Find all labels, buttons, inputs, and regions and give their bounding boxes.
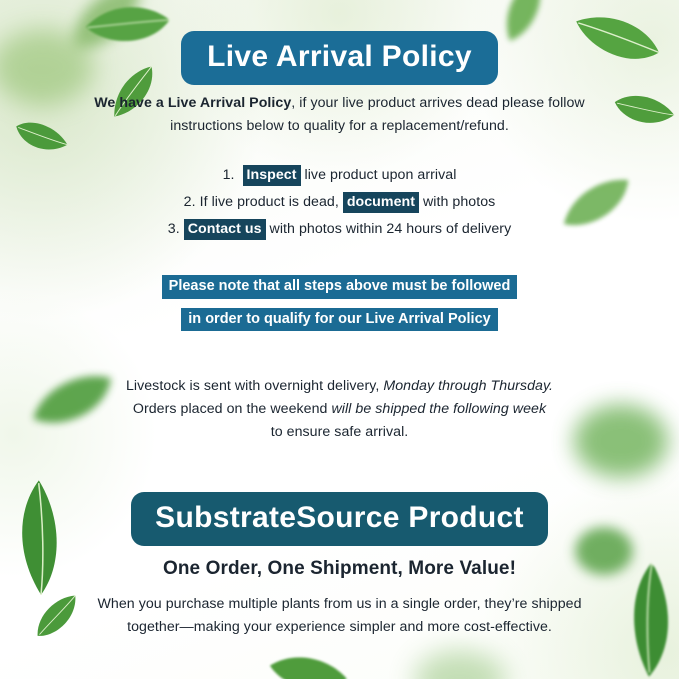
live-arrival-intro-paragraph: We have a Live Arrival Policy, if your l… <box>0 92 679 138</box>
step-number: 2. <box>184 194 196 210</box>
live-arrival-banner-row: Live Arrival Policy <box>0 31 679 85</box>
content-root: Live Arrival Policy We have a Live Arriv… <box>0 0 679 679</box>
policy-note-block: Please note that all steps above must be… <box>0 275 679 331</box>
substrate-body-paragraph: When you purchase multiple plants from u… <box>0 593 679 639</box>
shipping-line-1: Livestock is sent with overnight deliver… <box>0 375 679 398</box>
policy-note-line-1: Please note that all steps above must be… <box>162 275 518 299</box>
list-item: 3. Contact us with photos within 24 hour… <box>0 222 679 236</box>
shipping-line-3: to ensure safe arrival. <box>0 421 679 444</box>
live-arrival-policy-banner: Live Arrival Policy <box>181 31 498 85</box>
policy-note-line-2: in order to qualify for our Live Arrival… <box>181 308 497 332</box>
step-after-text: live product upon arrival <box>301 167 457 183</box>
list-item: 2. If live product is dead, document wit… <box>0 195 679 209</box>
step-after-text: with photos <box>419 194 495 210</box>
substrate-banner-row: SubstrateSource Product <box>0 492 679 546</box>
step-highlight-document[interactable]: document <box>343 192 419 213</box>
policy-note-line-2-row: in order to qualify for our Live Arrival… <box>0 308 679 332</box>
substrate-subheading: One Order, One Shipment, More Value! <box>0 558 679 580</box>
list-item: 1. Inspect live product upon arrival <box>0 168 679 182</box>
shipping-schedule-paragraph: Livestock is sent with overnight deliver… <box>0 375 679 444</box>
intro-line-2: instructions below to quality for a repl… <box>0 115 679 138</box>
substrate-body-line-1: When you purchase multiple plants from u… <box>0 593 679 616</box>
shipping-line-2-plain: Orders placed on the weekend <box>133 401 332 417</box>
step-after-text: with photos within 24 hours of delivery <box>266 221 512 237</box>
shipping-line-2: Orders placed on the weekend will be shi… <box>0 398 679 421</box>
step-number: 1. <box>223 167 235 183</box>
shipping-line-2-italic: will be shipped the following week <box>331 401 546 417</box>
shipping-line-1-italic: Monday through Thursday. <box>383 378 553 394</box>
shipping-line-1-plain: Livestock is sent with overnight deliver… <box>126 378 383 394</box>
intro-line-1: We have a Live Arrival Policy, if your l… <box>0 92 679 115</box>
substratesource-product-banner: SubstrateSource Product <box>131 492 548 546</box>
step-highlight-contact-us[interactable]: Contact us <box>184 219 266 240</box>
step-before-text: If live product is dead, <box>200 194 343 210</box>
step-number: 3. <box>168 221 180 237</box>
step-highlight-inspect[interactable]: Inspect <box>243 165 301 186</box>
policy-note-line-1-row: Please note that all steps above must be… <box>0 275 679 299</box>
infographic-page: Live Arrival Policy We have a Live Arriv… <box>0 0 679 679</box>
intro-bold-text: We have a Live Arrival Policy <box>94 95 291 111</box>
substrate-body-line-2: together—making your experience simpler … <box>0 616 679 639</box>
steps-list: 1. Inspect live product upon arrival 2. … <box>0 168 679 237</box>
intro-rest-text: , if your live product arrives dead plea… <box>291 95 584 111</box>
